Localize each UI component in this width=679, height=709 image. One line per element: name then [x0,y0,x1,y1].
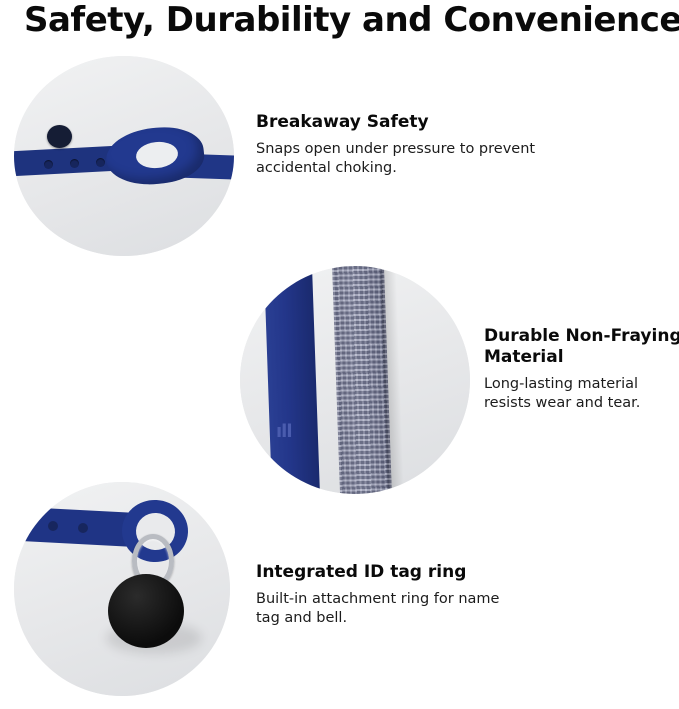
feature-heading: Integrated ID tag ring [256,562,506,583]
snap-button-icon [47,125,72,148]
page-title: Safety, Durability and Convenience [24,0,664,40]
feature-text-durable-material: Durable Non-Fraying Material Long-lastin… [484,326,679,413]
strap-hole [96,158,105,167]
feature-text-id-tag-ring: Integrated ID tag ring Built-in attachme… [256,562,506,628]
id-tag [108,574,184,648]
strap-hole [48,521,58,531]
product-feature-infographic: Safety, Durability and Convenience Break… [0,0,679,709]
collar-strap-end [264,266,321,494]
feature-body: Snaps open under pressure to prevent acc… [256,140,546,178]
brand-logo-embossed: ıll [276,421,306,443]
strap-hole [44,160,53,169]
feature-text-breakaway-safety: Breakaway Safety Snaps open under pressu… [256,112,546,178]
feature-body: Built-in attachment ring for name tag an… [256,590,506,628]
feature-heading: Breakaway Safety [256,112,546,133]
strap-hole [70,159,79,168]
strap-hole [78,523,88,533]
feature-heading: Durable Non-Fraying Material [484,326,679,368]
feature-photo-durable-material: ıll [240,266,470,494]
feature-photo-breakaway-safety [14,56,234,256]
feature-photo-id-tag-ring [14,482,230,696]
feature-body: Long-lasting material resists wear and t… [484,375,679,413]
